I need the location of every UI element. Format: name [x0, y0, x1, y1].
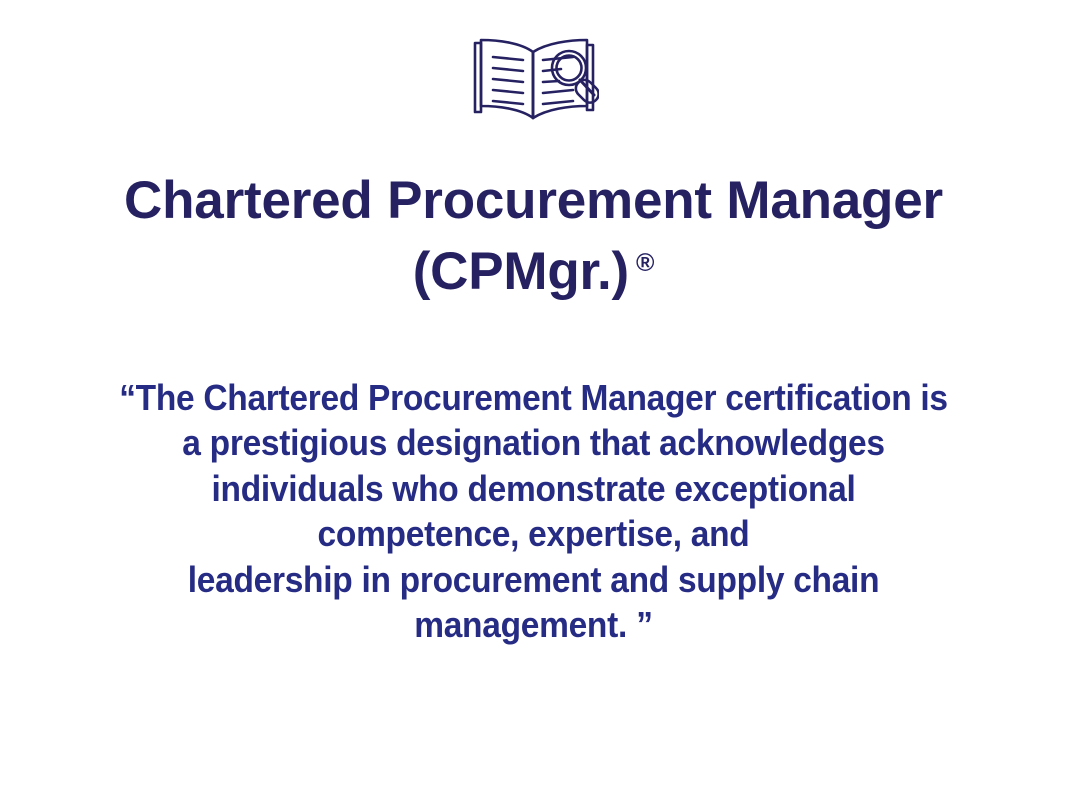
quote-line-last: management.” [37, 602, 1029, 648]
registered-trademark-icon: ® [636, 249, 654, 277]
open-book-with-magnifier-icon [469, 30, 599, 128]
quote-line-text: management. [414, 604, 627, 645]
title-line-1: Chartered Procurement Manager [0, 170, 1067, 232]
page-title: Chartered Procurement Manager (CPMgr.)® [0, 170, 1067, 303]
certification-quote: “The Chartered Procurement Manager certi… [37, 375, 1029, 648]
closing-quote-mark: ” [636, 604, 652, 645]
quote-line: a prestigious designation that acknowled… [37, 420, 1029, 466]
quote-line: competence, expertise, and [37, 511, 1029, 557]
quote-line: leadership in procurement and supply cha… [37, 557, 1029, 603]
title-designation-abbreviation: (CPMgr.) [413, 242, 629, 301]
certification-title-card: Chartered Procurement Manager (CPMgr.)® … [0, 0, 1067, 800]
title-line-2: (CPMgr.)® [0, 232, 1067, 303]
quote-line: individuals who demonstrate exceptional [37, 466, 1029, 512]
quote-line: “The Chartered Procurement Manager certi… [37, 375, 1029, 421]
